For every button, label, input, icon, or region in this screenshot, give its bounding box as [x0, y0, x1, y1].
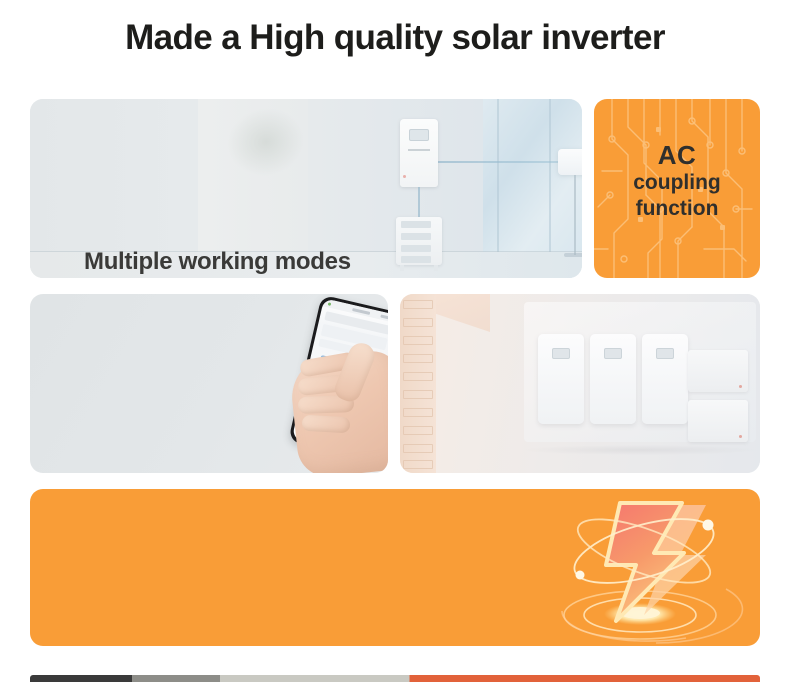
ac-coupling-text-block: AC coupling function: [594, 141, 760, 221]
lightning-bolt-icon: [536, 493, 746, 646]
smartphone-icon: [288, 295, 388, 460]
card-max-3-pcs-parallel: Max. 3 pcs parallel for on- grid, off gr…: [400, 294, 760, 473]
banner-4-mppts: 4MPPTs Max input current of 16A for each…: [30, 489, 760, 646]
inverter-icon-1: [538, 334, 584, 424]
inverter-unit-icon: [400, 119, 438, 187]
inverter-icon-2: [590, 334, 636, 424]
ac-line-3: function: [594, 196, 760, 222]
hand-phone-illustration: [30, 294, 388, 473]
battery-stack-icon: [396, 217, 442, 265]
battery-box-icon-1: [688, 350, 748, 392]
infographic-page: Made a High quality solar inverter: [0, 0, 790, 682]
bottom-section-strip: [30, 675, 760, 682]
three-inverters-illustration: [400, 294, 760, 473]
ac-line-2: coupling: [594, 170, 760, 196]
card-solarman-app: Solarman APP Enables remote intelligent …: [30, 294, 388, 473]
inverter-icon-3: [642, 334, 688, 424]
hand-icon: [288, 349, 388, 473]
modes-heading: Multiple working modes: [84, 248, 351, 276]
ac-line-1: AC: [594, 141, 760, 170]
battery-box-icon-2: [688, 400, 748, 442]
card-multiple-working-modes: Multiple working modes supporting peak s…: [30, 99, 582, 278]
page-title: Made a High quality solar inverter: [0, 18, 790, 58]
card-ac-coupling: AC coupling function: [594, 99, 760, 278]
